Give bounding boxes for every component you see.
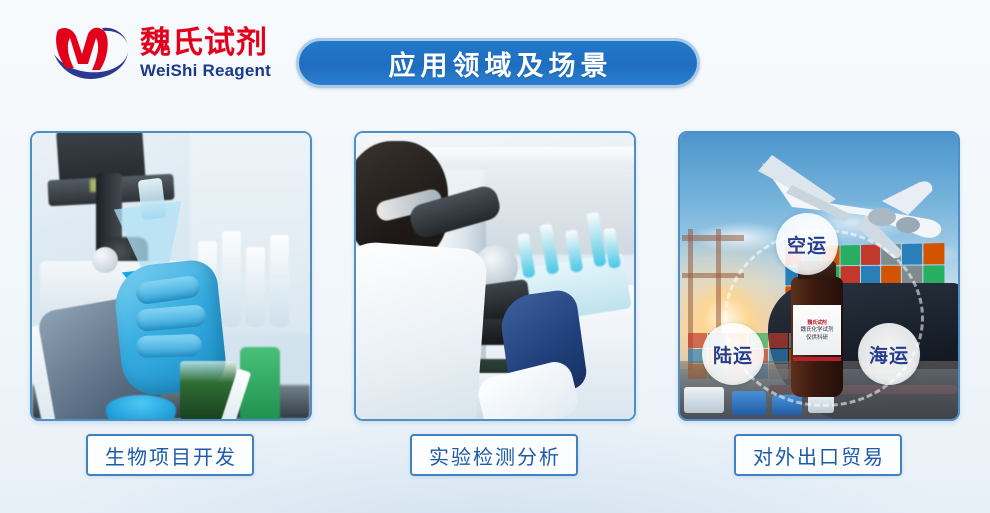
logistics-mode-sea: 海运 bbox=[858, 323, 920, 385]
weishi-w-swoosh-logo-icon bbox=[48, 24, 132, 82]
brand-text: 魏氏试剂 WeiShi Reagent bbox=[140, 25, 271, 82]
caption-bio-project-development[interactable]: 生物项目开发 bbox=[86, 434, 254, 476]
brand-name-en: WeiShi Reagent bbox=[140, 60, 271, 81]
card-gallery: 魏氏试剂 魏氏化学试剂 仅供科研 空运 陆运 海运 bbox=[0, 131, 990, 421]
caption-label: 生物项目开发 bbox=[103, 441, 237, 470]
logistics-mode-air: 空运 bbox=[776, 213, 838, 275]
bottle-label-logo: 魏氏试剂 bbox=[807, 319, 826, 326]
caption-lab-testing-analysis[interactable]: 实验检测分析 bbox=[410, 434, 578, 476]
caption-label: 对外出口贸易 bbox=[751, 441, 885, 470]
bottle-label-line1: 魏氏化学试剂 bbox=[800, 327, 833, 334]
photo-airplane-cargo-ship-trucks-reagent-bottle: 魏氏试剂 魏氏化学试剂 仅供科研 空运 陆运 海运 bbox=[680, 133, 958, 419]
brand-name-cn: 魏氏试剂 bbox=[140, 27, 271, 60]
page-header: 魏氏试剂 WeiShi Reagent 应用领域及场景 bbox=[0, 0, 990, 118]
photo-researcher-at-microscope-with-test-tube-rack bbox=[356, 133, 634, 419]
reagent-bottle-icon: 魏氏试剂 魏氏化学试剂 仅供科研 bbox=[786, 261, 848, 397]
photo-gloved-hand-holding-blue-flask-microscope bbox=[32, 133, 310, 419]
caption-label: 实验检测分析 bbox=[427, 441, 561, 470]
logistics-mode-land-label: 陆运 bbox=[713, 341, 753, 368]
logistics-mode-sea-label: 海运 bbox=[869, 341, 909, 368]
slide-root: 魏氏试剂 WeiShi Reagent 应用领域及场景 bbox=[0, 0, 990, 513]
card-export-trade[interactable]: 魏氏试剂 魏氏化学试剂 仅供科研 空运 陆运 海运 bbox=[678, 131, 960, 421]
page-title: 应用领域及场景 bbox=[384, 44, 613, 83]
caption-export-trade[interactable]: 对外出口贸易 bbox=[734, 434, 902, 476]
logistics-mode-air-label: 空运 bbox=[787, 231, 827, 258]
logistics-mode-land: 陆运 bbox=[702, 323, 764, 385]
bottle-label-line2: 仅供科研 bbox=[806, 335, 828, 342]
section-title-banner: 应用领域及场景 bbox=[296, 38, 700, 88]
card-bio-project-development[interactable] bbox=[30, 131, 312, 421]
card-lab-testing-analysis[interactable] bbox=[354, 131, 636, 421]
brand-logo[interactable]: 魏氏试剂 WeiShi Reagent bbox=[48, 24, 271, 82]
